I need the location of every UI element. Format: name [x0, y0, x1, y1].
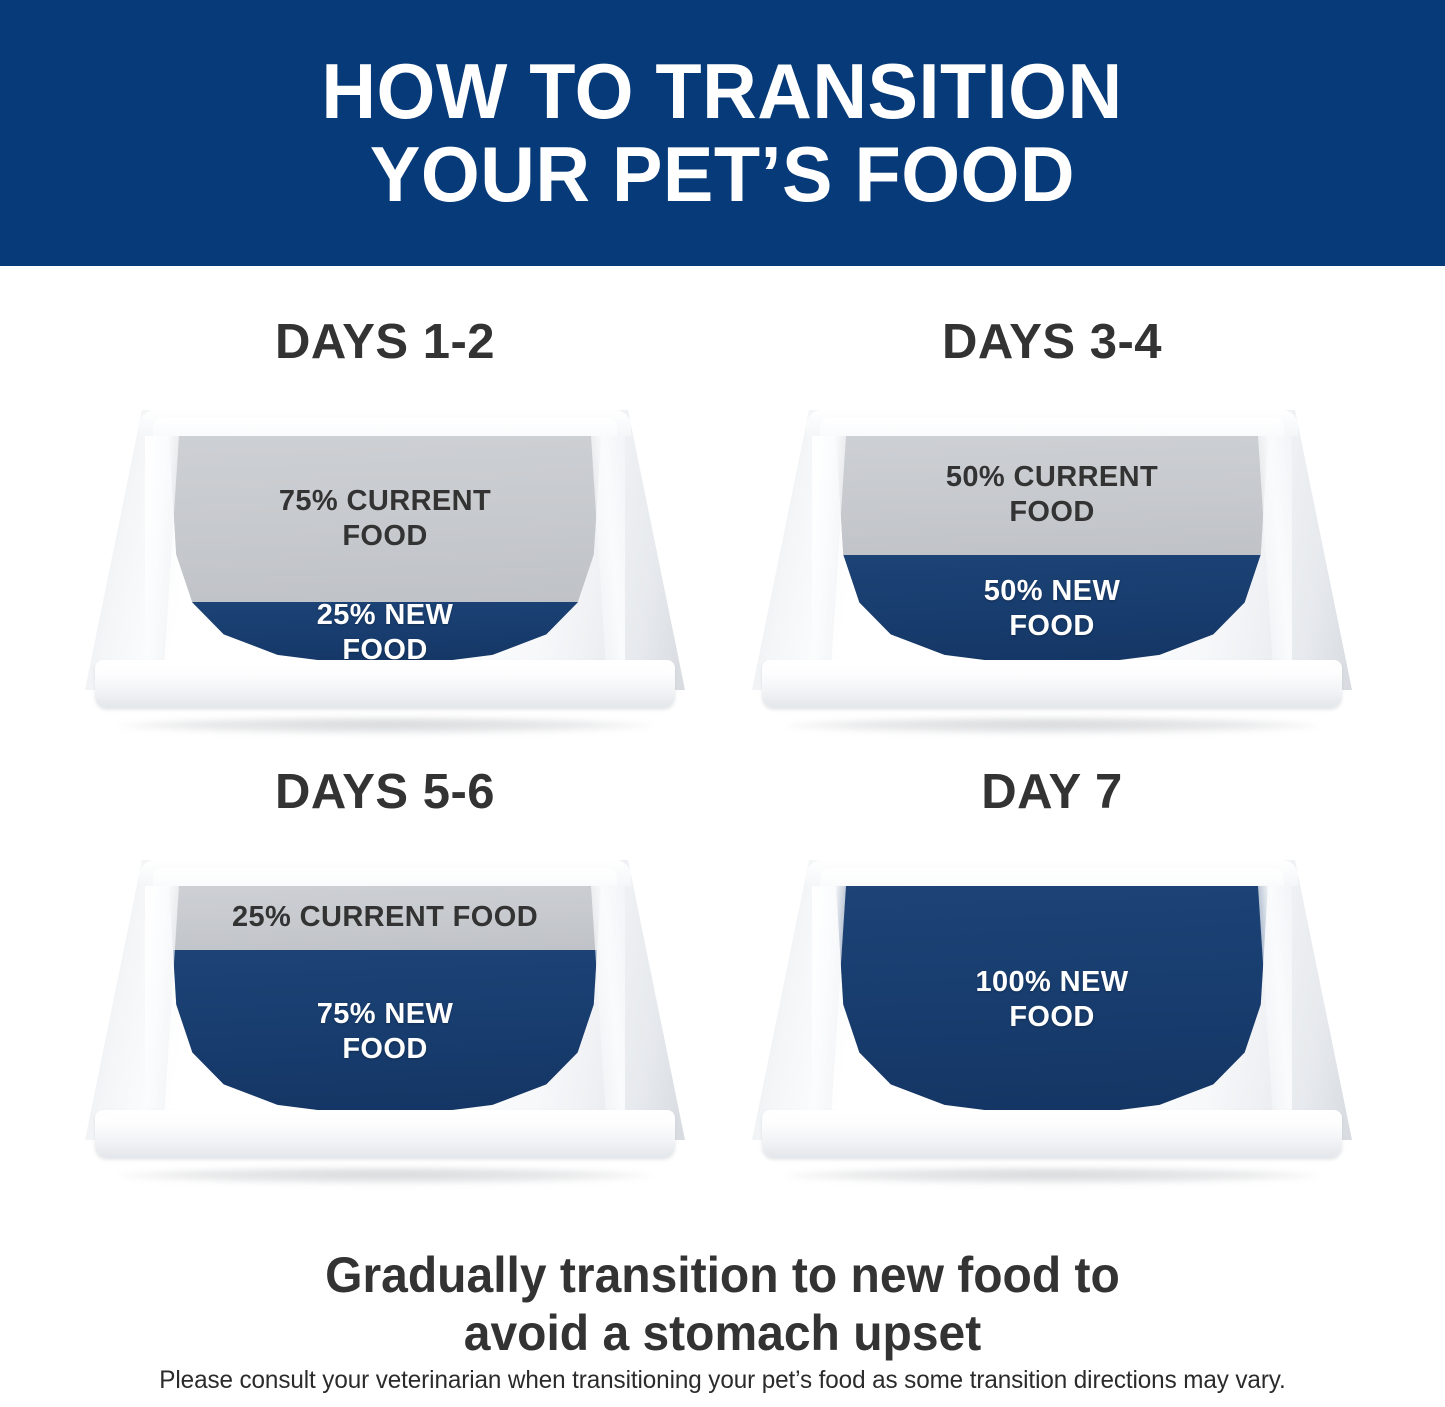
- transition-steps-grid: DAYS 1-2 75% CURRENT FOOD 25% NEW FOOD: [0, 266, 1445, 1226]
- current-food-layer: 50% CURRENT FOOD: [828, 436, 1276, 555]
- step-day-label: DAYS 5-6: [55, 768, 715, 826]
- disclaimer-fine-print: Please consult your veterinarian when tr…: [22, 1366, 1424, 1395]
- bowl-foot-sheen: [774, 662, 1330, 671]
- new-food-layer: 100% NEW FOOD: [828, 886, 1276, 1114]
- food-bowl-illustration: 75% CURRENT FOOD 25% NEW FOOD: [85, 404, 685, 734]
- bowl-foot-sheen: [774, 1112, 1330, 1121]
- transition-step-days-5-6: DAYS 5-6 25% CURRENT FOOD 75% NEW FOOD: [55, 768, 715, 1223]
- bowl-food-well: 50% CURRENT FOOD 50% NEW FOOD: [828, 436, 1276, 664]
- new-food-label: 100% NEW FOOD: [959, 965, 1144, 1036]
- header-banner: HOW TO TRANSITION YOUR PET’S FOOD: [0, 0, 1445, 266]
- bowl-ground-shadow: [117, 1168, 653, 1184]
- new-food-label: 75% NEW FOOD: [301, 997, 470, 1068]
- current-food-label: 50% CURRENT FOOD: [930, 460, 1174, 531]
- bowl-food-well: 100% NEW FOOD: [828, 886, 1276, 1114]
- header-title-line-2: YOUR PET’S FOOD: [370, 137, 1075, 212]
- transition-step-day-7: DAY 7 100% NEW FOOD: [722, 768, 1382, 1223]
- transition-step-days-3-4: DAYS 3-4 50% CURRENT FOOD 50% NEW FOOD: [722, 318, 1382, 773]
- current-food-layer: 75% CURRENT FOOD: [161, 436, 609, 602]
- step-day-label: DAY 7: [722, 768, 1382, 826]
- bowl-food-well: 25% CURRENT FOOD 75% NEW FOOD: [161, 886, 609, 1114]
- bowl-foot: [762, 660, 1342, 708]
- food-bowl-illustration: 25% CURRENT FOOD 75% NEW FOOD: [85, 854, 685, 1184]
- header-title-line-1: HOW TO TRANSITION: [322, 54, 1123, 129]
- bowl-foot: [95, 660, 675, 708]
- bowl-foot: [95, 1110, 675, 1158]
- new-food-label: 25% NEW FOOD: [301, 598, 470, 664]
- new-food-label: 50% NEW FOOD: [968, 574, 1137, 645]
- bowl-foot-sheen: [107, 1112, 663, 1121]
- bowl-foot: [762, 1110, 1342, 1158]
- current-food-label: 25% CURRENT FOOD: [216, 900, 554, 935]
- infographic-page: HOW TO TRANSITION YOUR PET’S FOOD DAYS 1…: [0, 0, 1445, 1407]
- caption-line-1: Gradually transition to new food to: [29, 1246, 1416, 1304]
- bowl-foot-sheen: [107, 662, 663, 671]
- bowl-food-well: 75% CURRENT FOOD 25% NEW FOOD: [161, 436, 609, 664]
- transition-step-days-1-2: DAYS 1-2 75% CURRENT FOOD 25% NEW FOOD: [55, 318, 715, 773]
- food-bowl-illustration: 50% CURRENT FOOD 50% NEW FOOD: [752, 404, 1352, 734]
- food-bowl-illustration: 100% NEW FOOD: [752, 854, 1352, 1184]
- current-food-layer: 25% CURRENT FOOD: [161, 886, 609, 950]
- step-day-label: DAYS 1-2: [55, 318, 715, 376]
- current-food-label: 75% CURRENT FOOD: [263, 484, 507, 555]
- summary-caption: Gradually transition to new food to avoi…: [29, 1246, 1416, 1362]
- bowl-ground-shadow: [784, 718, 1320, 734]
- bowl-ground-shadow: [784, 1168, 1320, 1184]
- bowl-ground-shadow: [117, 718, 653, 734]
- caption-line-2: avoid a stomach upset: [29, 1304, 1416, 1362]
- step-day-label: DAYS 3-4: [722, 318, 1382, 376]
